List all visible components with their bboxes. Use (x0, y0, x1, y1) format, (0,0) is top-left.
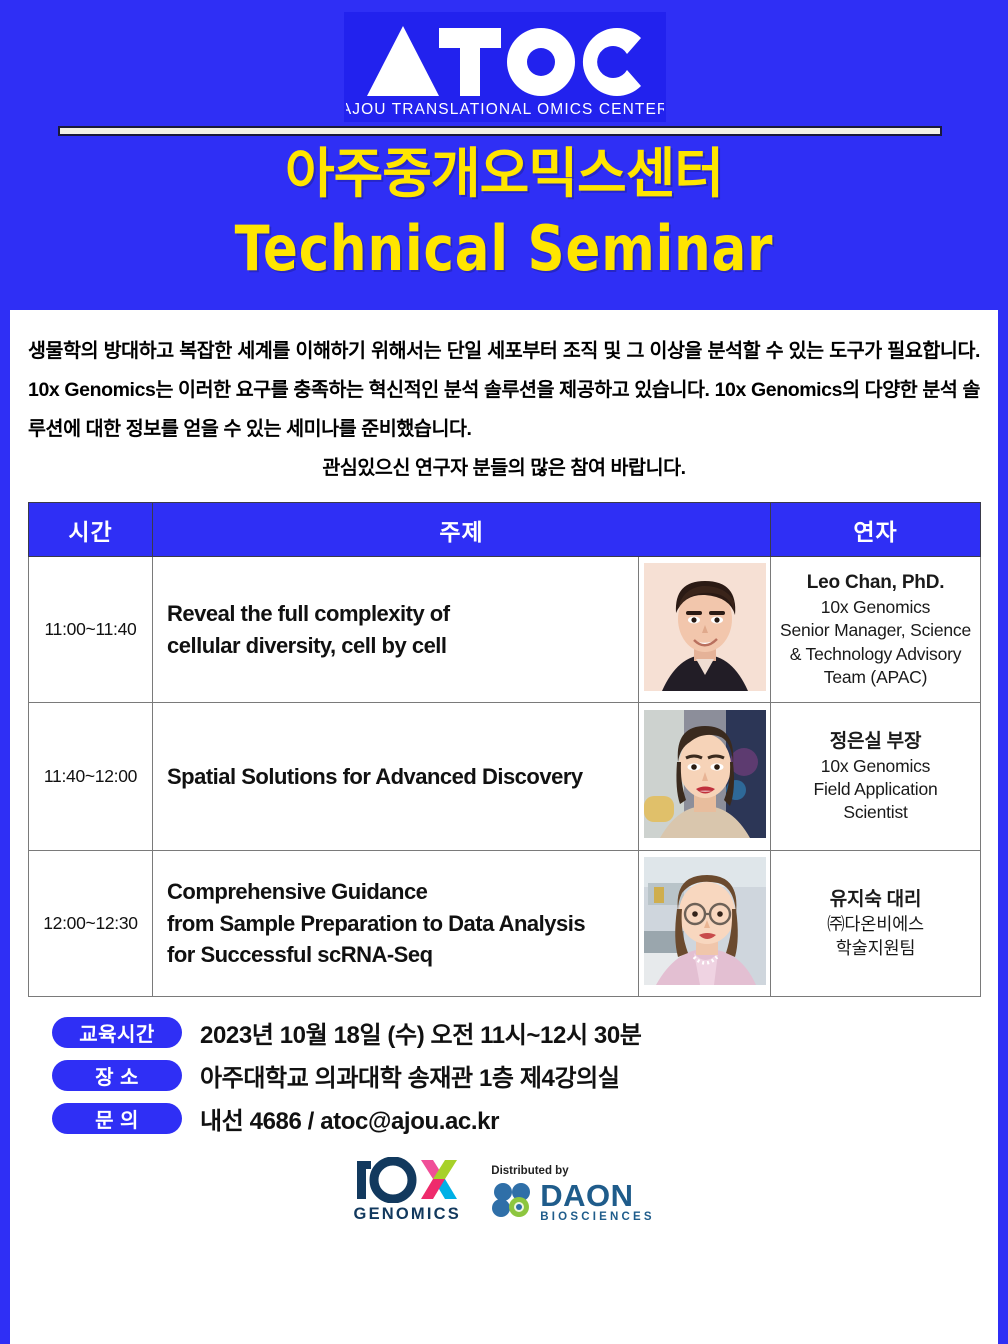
badge-contact-label: 문 의 (52, 1103, 182, 1134)
speaker-name: Leo Chan, PhD. (777, 570, 974, 595)
session-time: 11:40~12:00 (29, 703, 153, 851)
speaker-info: 유지숙 대리 ㈜다온비에스 학술지원팀 (771, 851, 981, 997)
daon-wordmark: DAON (540, 1182, 654, 1210)
detail-schedule-value: 2023년 10월 18일 (수) 오전 11시~12시 30분 (200, 1015, 641, 1050)
page-title-english: Technical Seminar (40, 216, 967, 281)
tenx-mark-icon (353, 1157, 461, 1203)
speaker-affiliation-line: Team (APAC) (777, 666, 974, 689)
speaker-affiliation-line: 학술지원팀 (777, 937, 974, 960)
detail-location-value: 아주대학교 의과대학 송재관 1층 제4강의실 (200, 1058, 620, 1093)
column-header-topic: 주제 (153, 503, 771, 557)
session-topic-line: Reveal the full complexity of (167, 598, 624, 630)
daon-biosciences-logo: Distributed by DAON (491, 1165, 654, 1224)
speaker-info: Leo Chan, PhD. 10x Genomics Senior Manag… (771, 557, 981, 703)
seminar-poster: AJOU TRANSLATIONAL OMICS CENTER 아주중개오믹스센… (0, 0, 1008, 1344)
table-header-row: 시간 주제 연자 (29, 503, 981, 557)
distributed-by-label: Distributed by (491, 1165, 568, 1177)
session-time: 11:00~11:40 (29, 557, 153, 703)
tenx-wordmark: GENOMICS (354, 1205, 461, 1224)
column-header-speaker: 연자 (771, 503, 981, 557)
badge-location-label: 장 소 (52, 1060, 182, 1091)
session-topic: Spatial Solutions for Advanced Discovery (153, 703, 639, 851)
speaker-affiliation-line: ㈜다온비에스 (777, 913, 974, 936)
intro-body: 생물학의 방대하고 복잡한 세계를 이해하기 위해서는 단일 세포부터 조직 및… (28, 340, 980, 440)
table-row: 11:00~11:40 Reveal the full complexity o… (29, 557, 981, 703)
schedule-table: 시간 주제 연자 11:00~11:40 Reveal the full com… (28, 502, 981, 997)
detail-contact-value[interactable]: 내선 4686 / atoc@ajou.ac.kr (200, 1101, 499, 1136)
session-topic-line: for Successful scRNA-Seq (167, 939, 624, 971)
session-topic: Reveal the full complexity of cellular d… (153, 557, 639, 703)
detail-row-contact: 문 의 내선 4686 / atoc@ajou.ac.kr (52, 1101, 998, 1136)
speaker-name: 유지숙 대리 (777, 887, 974, 912)
daon-subtitle: BIOSCIENCES (540, 1211, 654, 1223)
speaker-info: 정은실 부장 10x Genomics Field Application Sc… (771, 703, 981, 851)
column-header-time: 시간 (29, 503, 153, 557)
speaker-photo-cell (639, 557, 771, 703)
detail-row-location: 장 소 아주대학교 의과대학 송재관 1층 제4강의실 (52, 1058, 998, 1093)
table-row: 12:00~12:30 Comprehensive Guidance from … (29, 851, 981, 997)
atoc-logo-subtitle: AJOU TRANSLATIONAL OMICS CENTER (344, 102, 666, 118)
speaker-affiliation-line: 10x Genomics (777, 755, 974, 778)
speaker-photo-yoo-jisook (644, 857, 766, 985)
sponsor-logos: GENOMICS Distributed by (10, 1146, 998, 1224)
speaker-photo-cell (639, 851, 771, 997)
session-topic-line: Spatial Solutions for Advanced Discovery (167, 761, 624, 793)
speaker-photo-jung-eunsil (644, 710, 766, 838)
poster-body: 생물학의 방대하고 복잡한 세계를 이해하기 위해서는 단일 세포부터 조직 및… (10, 310, 998, 1344)
session-topic-line: Comprehensive Guidance (167, 876, 624, 908)
session-time: 12:00~12:30 (29, 851, 153, 997)
poster-header: AJOU TRANSLATIONAL OMICS CENTER 아주중개오믹스센… (0, 0, 1008, 310)
speaker-photo-cell (639, 703, 771, 851)
schedule-table-wrapper: 시간 주제 연자 11:00~11:40 Reveal the full com… (10, 494, 998, 997)
speaker-affiliation-line: & Technology Advisory (777, 643, 974, 666)
speaker-affiliation-line: Scientist (777, 801, 974, 824)
speaker-affiliation-line: 10x Genomics (777, 596, 974, 619)
speaker-photo-leo-chan (644, 563, 766, 691)
session-topic-line: from Sample Preparation to Data Analysis (167, 908, 624, 940)
detail-row-schedule: 교육시간 2023년 10월 18일 (수) 오전 11시~12시 30분 (52, 1015, 998, 1050)
header-divider (58, 126, 942, 136)
speaker-affiliation-line: Field Application (777, 778, 974, 801)
atoc-logo: AJOU TRANSLATIONAL OMICS CENTER (344, 12, 666, 122)
daon-clover-icon (491, 1181, 535, 1224)
atoc-wordmark-icon (365, 18, 645, 100)
speaker-affiliation-line: Senior Manager, Science (777, 619, 974, 642)
speaker-name: 정은실 부장 (777, 729, 974, 754)
session-topic-line: cellular diversity, cell by cell (167, 630, 624, 662)
event-details: 교육시간 2023년 10월 18일 (수) 오전 11시~12시 30분 장 … (10, 997, 998, 1136)
intro-closing: 관심있으신 연구자 분들의 많은 참여 바랍니다. (28, 449, 980, 488)
intro-paragraph: 생물학의 방대하고 복잡한 세계를 이해하기 위해서는 단일 세포부터 조직 및… (10, 310, 998, 494)
tenx-genomics-logo: GENOMICS (353, 1157, 461, 1224)
page-title-korean: 아주중개오믹스센터 (0, 146, 1008, 203)
badge-schedule-label: 교육시간 (52, 1017, 182, 1048)
session-topic: Comprehensive Guidance from Sample Prepa… (153, 851, 639, 997)
table-row: 11:40~12:00 Spatial Solutions for Advanc… (29, 703, 981, 851)
